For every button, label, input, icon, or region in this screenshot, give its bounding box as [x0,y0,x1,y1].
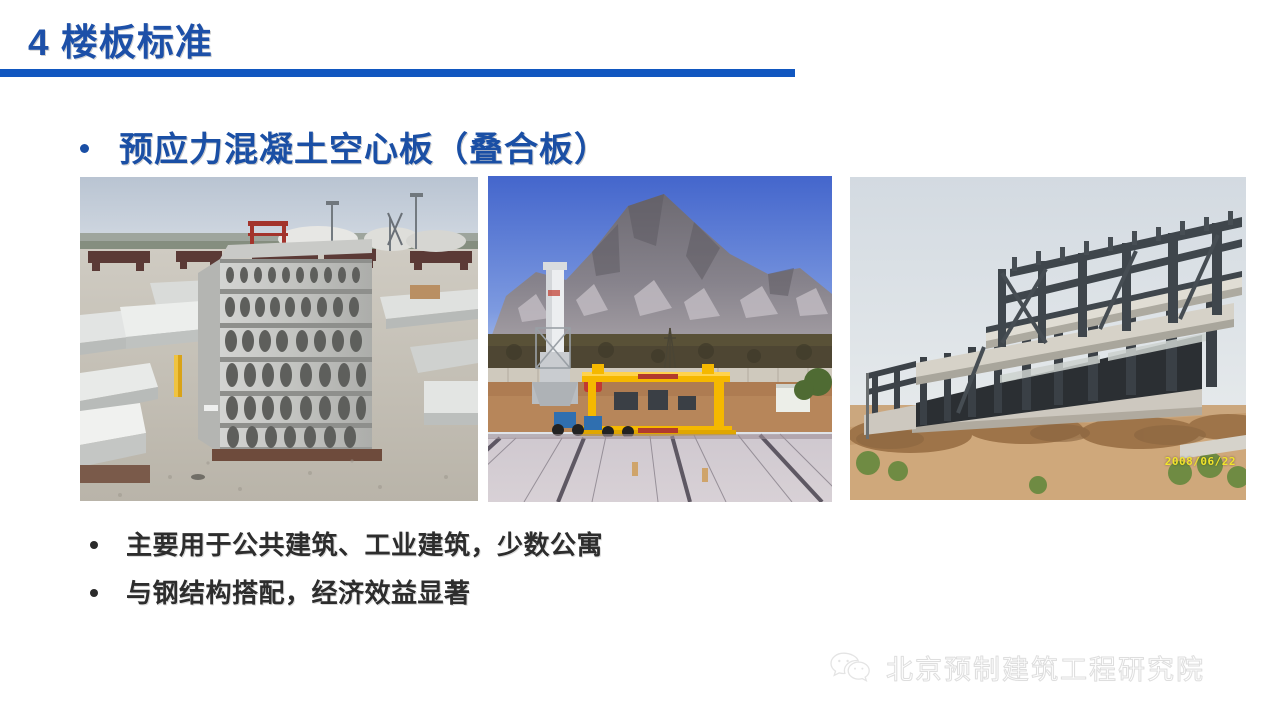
slide-canvas: 4 楼板标准 预应力混凝土空心板（叠合板） [0,0,1280,719]
list-item-label: 与钢结构搭配，经济效益显著 [126,576,471,610]
subtitle-bullet-row: 预应力混凝土空心板（叠合板） [80,122,609,171]
photo-3-graphic [850,177,1246,500]
wechat-icon [828,650,872,686]
list-item: 主要用于公共建筑、工业建筑，少数公寓 [90,528,603,562]
bullet-dot-icon [90,541,98,549]
photo-casting-bed-gantry [488,176,832,502]
title-underline-rule [0,69,795,77]
subtitle-text: 预应力混凝土空心板（叠合板） [119,122,609,171]
list-item: 与钢结构搭配，经济效益显著 [90,576,603,610]
watermark-label: 北京预制建筑工程研究院 [886,648,1205,687]
page-title: 4 楼板标准 [28,12,213,66]
bullet-dot-icon [80,144,89,153]
photo-2-graphic [488,176,832,502]
photo-date-stamp: 2008/06/22 [1165,455,1236,468]
bullet-dot-icon [90,589,98,597]
list-item-label: 主要用于公共建筑、工业建筑，少数公寓 [126,528,603,562]
watermark: 北京预制建筑工程研究院 [828,648,1205,687]
photo-steel-frame-building: 2008/06/22 [850,177,1246,500]
body-bullet-list: 主要用于公共建筑、工业建筑，少数公寓 与钢结构搭配，经济效益显著 [90,528,603,624]
photo-1-graphic [80,177,478,501]
photo-stacked-hollowcore-slabs [80,177,478,501]
